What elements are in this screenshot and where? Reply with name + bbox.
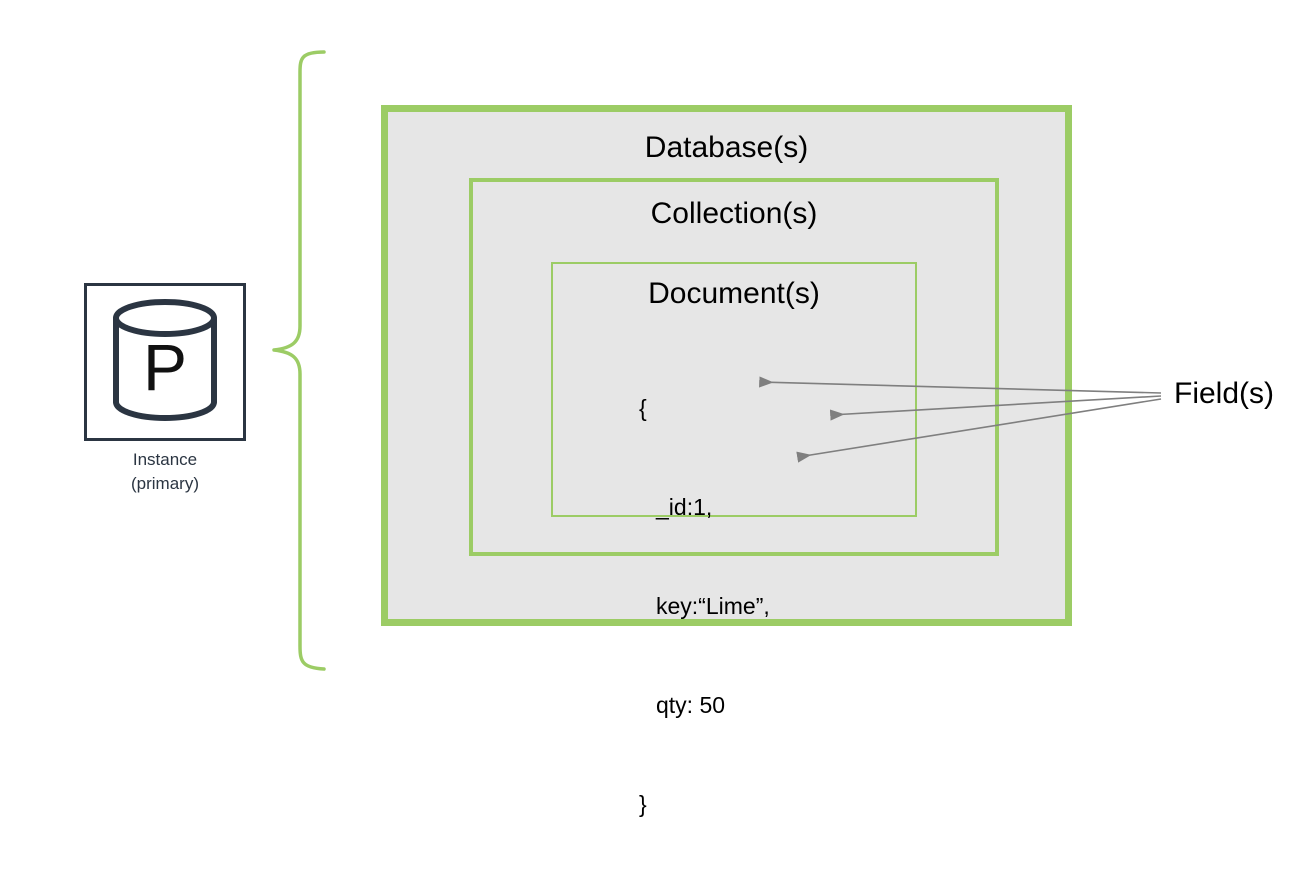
json-field-id: _id:1, [639,491,770,524]
instance-icon-letter: P [143,330,187,404]
instance-caption-line2: (primary) [84,472,246,496]
json-field-key: key:“Lime”, [639,590,770,623]
document-json-body: { _id:1, key:“Lime”, qty: 50 } [639,326,770,887]
instance-caption-line1: Instance [84,448,246,472]
json-close-brace: } [639,788,770,821]
document-box: Document(s) { _id:1, key:“Lime”, qty: 50… [551,262,917,517]
collection-box-title: Collection(s) [473,196,995,232]
diagram-canvas: P Instance (primary) Database(s) Collect… [0,0,1306,692]
instance-box: P [84,283,246,441]
database-box-title: Database(s) [388,130,1065,166]
database-cylinder-icon: P [106,298,224,426]
json-open-brace: { [639,392,770,425]
green-curly-brace [262,48,332,673]
json-field-qty: qty: 50 [639,689,770,722]
document-box-title: Document(s) [553,276,915,312]
curly-brace-icon [262,48,332,673]
field-annotation-label: Field(s) [1174,376,1274,412]
instance-group: P Instance (primary) [84,283,246,496]
instance-caption: Instance (primary) [84,448,246,496]
